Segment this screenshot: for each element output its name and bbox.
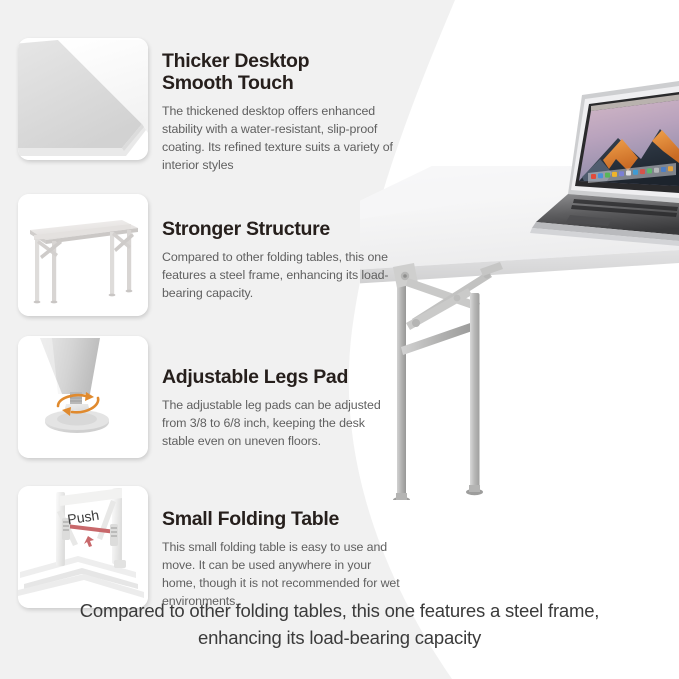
- feature-thumbnail-small-folding-table: Push: [18, 486, 148, 608]
- feature-title: Thicker Desktop Smooth Touch: [162, 42, 400, 94]
- feature-item-small-folding-table: Push Small Folding Table This small fold…: [18, 486, 400, 611]
- feature-text-block: Adjustable Legs Pad The adjustable leg p…: [162, 336, 400, 451]
- feature-title: Small Folding Table: [162, 490, 400, 530]
- caption-line-1: Compared to other folding tables, this o…: [40, 598, 639, 624]
- feature-title-line: Smooth Touch: [162, 72, 293, 94]
- feature-item-adjustable-legs-pad: Adjustable Legs Pad The adjustable leg p…: [18, 336, 400, 458]
- feature-title: Adjustable Legs Pad: [162, 340, 400, 388]
- feature-text-block: Small Folding Table This small folding t…: [162, 486, 400, 611]
- feature-description: The thickened desktop offers enhanced st…: [162, 103, 400, 174]
- bottom-caption: Compared to other folding tables, this o…: [0, 598, 679, 651]
- feature-title: Stronger Structure: [162, 198, 400, 240]
- desktop-panel-corner-icon: [18, 38, 148, 160]
- feature-title-line: Thicker Desktop: [162, 50, 309, 72]
- folding-table-frame-icon: [18, 194, 148, 316]
- feature-item-stronger-structure: Stronger Structure Compared to other fol…: [18, 194, 400, 316]
- feature-thumbnail-thicker-desktop: [18, 38, 148, 160]
- push-folding-mechanism-icon: Push: [18, 486, 148, 608]
- product-photo: [360, 55, 679, 500]
- feature-thumbnail-stronger-structure: [18, 194, 148, 316]
- feature-text-block: Stronger Structure Compared to other fol…: [162, 194, 400, 303]
- desk-laptop-illustration: [360, 55, 679, 500]
- feature-text-block: Thicker Desktop Smooth Touch The thicken…: [162, 38, 400, 175]
- feature-description: Compared to other folding tables, this o…: [162, 249, 400, 303]
- adjustable-leg-pad-icon: [18, 336, 148, 458]
- feature-thumbnail-adjustable-legs-pad: [18, 336, 148, 458]
- caption-line-2: enhancing its load-bearing capacity: [40, 625, 639, 651]
- feature-description: The adjustable leg pads can be adjusted …: [162, 397, 400, 451]
- product-infographic: Thicker Desktop Smooth Touch The thicken…: [0, 0, 679, 679]
- feature-item-thicker-desktop: Thicker Desktop Smooth Touch The thicken…: [18, 38, 400, 175]
